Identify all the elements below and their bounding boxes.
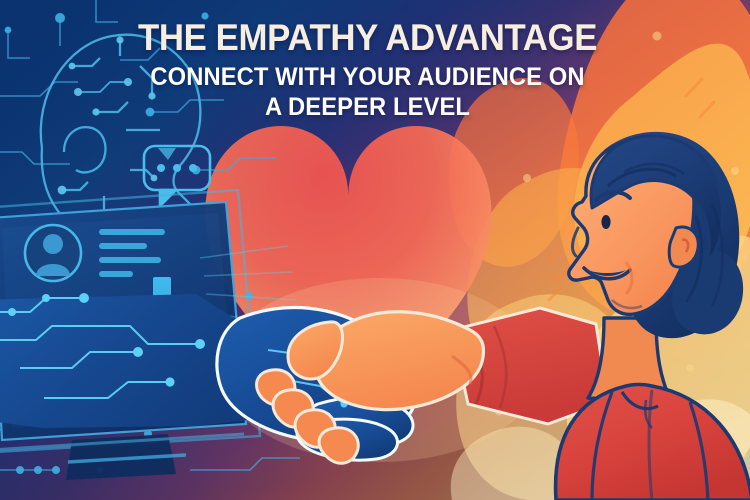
empathy-advantage-banner: THE EMPATHY ADVANTAGE CONNECT WITH YOUR …	[0, 0, 750, 500]
smiling-woman-profile	[0, 0, 750, 500]
